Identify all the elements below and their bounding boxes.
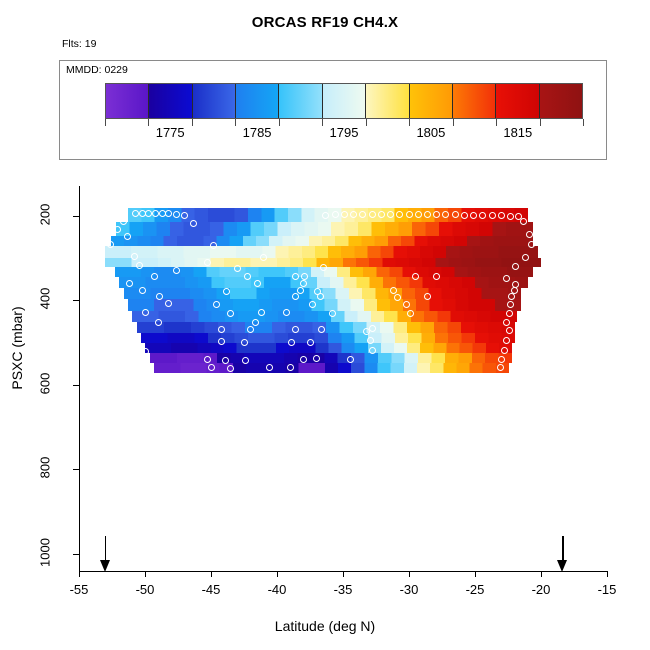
data-point-marker: [227, 365, 234, 372]
colorbar-segment: [539, 84, 582, 118]
data-point-marker: [320, 264, 327, 271]
data-point-marker: [292, 326, 299, 333]
figure-canvas: ORCAS RF19 CH4.X Flts: 19 MMDD: 0229 177…: [0, 0, 650, 650]
colorbar-tick-label: 1795: [330, 125, 359, 140]
data-point-marker: [412, 273, 419, 280]
x-tick-label: -40: [268, 582, 287, 597]
colorbar-segment: [278, 84, 321, 118]
data-point-marker: [124, 233, 131, 240]
x-tick: [541, 571, 542, 577]
y-tick-label: 200: [38, 191, 53, 237]
data-point-marker: [503, 337, 510, 344]
colorbar[interactable]: [105, 83, 583, 119]
data-point-marker: [131, 253, 138, 260]
page-title: ORCAS RF19 CH4.X: [0, 14, 650, 31]
x-axis-title: Latitude (deg N): [0, 618, 650, 634]
y-tick: [73, 300, 79, 301]
x-tick: [343, 571, 344, 577]
colorbar-segment: [148, 84, 191, 118]
flight-count-label: Flts: 19: [62, 38, 96, 50]
data-point-marker: [300, 356, 307, 363]
data-point-marker: [300, 280, 307, 287]
data-point-marker: [107, 241, 114, 248]
data-point-marker: [138, 364, 145, 371]
x-tick-label: -45: [202, 582, 221, 597]
data-point-marker: [136, 262, 143, 269]
data-point-marker: [218, 326, 225, 333]
x-tick-label: -20: [532, 582, 551, 597]
data-point-marker: [247, 326, 254, 333]
data-point-marker: [252, 319, 259, 326]
y-tick-label: 600: [38, 360, 53, 406]
data-point-marker: [489, 212, 496, 219]
colorbar-tick: [583, 119, 584, 126]
data-point-marker: [347, 356, 354, 363]
endpoint-arrow-icon: [100, 536, 111, 572]
data-point-marker: [292, 293, 299, 300]
data-point-marker: [506, 327, 513, 334]
data-point-marker: [322, 212, 329, 219]
data-point-marker: [507, 213, 514, 220]
data-point-marker: [461, 212, 468, 219]
data-point-marker: [234, 265, 241, 272]
data-point-marker: [507, 301, 514, 308]
y-axis-title: PSXC (mbar): [9, 268, 25, 428]
data-point-marker: [227, 310, 234, 317]
colorbar-panel: MMDD: 0229 17751785179518051815: [59, 60, 607, 160]
data-point-marker: [318, 326, 325, 333]
colorbar-segment: [409, 84, 452, 118]
data-point-marker: [218, 338, 225, 345]
x-tick-label: -50: [136, 582, 155, 597]
data-point-marker: [528, 241, 535, 248]
x-tick: [607, 571, 608, 577]
data-point-marker: [329, 310, 336, 317]
data-point-marker: [287, 364, 294, 371]
colorbar-tick-label: 1785: [243, 125, 272, 140]
x-tick: [475, 571, 476, 577]
x-tick-label: -55: [70, 582, 89, 597]
colorbar-segment: [235, 84, 278, 118]
y-tick-label: 1000: [38, 530, 53, 576]
data-point-marker: [406, 211, 413, 218]
data-point-marker: [242, 357, 249, 364]
y-tick: [73, 385, 79, 386]
data-point-marker: [424, 211, 431, 218]
data-point-marker: [156, 293, 163, 300]
data-point-marker: [369, 211, 376, 218]
colorbar-segment: [495, 84, 538, 118]
x-tick: [145, 571, 146, 577]
data-point-marker: [258, 309, 265, 316]
data-point-marker: [433, 211, 440, 218]
data-point-marker: [394, 294, 401, 301]
data-point-marker: [498, 212, 505, 219]
y-tick-label: 800: [38, 445, 53, 491]
x-tick-label: -15: [598, 582, 617, 597]
data-point-marker: [213, 301, 220, 308]
data-point-marker: [297, 287, 304, 294]
colorbar-segment: [192, 84, 235, 118]
data-point-marker: [506, 310, 513, 317]
data-point-marker: [165, 300, 172, 307]
data-point-marker: [309, 301, 316, 308]
x-tick: [277, 571, 278, 577]
data-point-marker: [204, 356, 211, 363]
x-tick-label: -30: [400, 582, 419, 597]
data-point-marker: [313, 355, 320, 362]
y-tick-label: 400: [38, 276, 53, 322]
data-point-marker: [307, 339, 314, 346]
data-point-marker: [244, 273, 251, 280]
data-point-marker: [470, 212, 477, 219]
x-tick-label: -35: [334, 582, 353, 597]
colorbar-tick-labels: 17751785179518051815: [105, 125, 583, 143]
data-point-marker: [173, 211, 180, 218]
data-point-marker: [433, 273, 440, 280]
data-point-marker: [204, 259, 211, 266]
date-label: MMDD: 0229: [66, 64, 128, 76]
data-point-marker: [396, 211, 403, 218]
data-point-marker: [260, 254, 267, 261]
colorbar-tick-label: 1775: [156, 125, 185, 140]
x-tick-label: -25: [466, 582, 485, 597]
colorbar-segment: [365, 84, 408, 118]
data-point-marker: [152, 210, 159, 217]
data-point-marker: [512, 263, 519, 270]
data-point-marker: [359, 211, 366, 218]
data-point-marker: [369, 347, 376, 354]
data-point-marker: [479, 212, 486, 219]
data-point-marker: [292, 273, 299, 280]
colorbar-tick-label: 1805: [416, 125, 445, 140]
data-point-marker: [424, 293, 431, 300]
data-point-marker: [503, 319, 510, 326]
data-point-marker: [403, 301, 410, 308]
colorbar-segment: [106, 84, 148, 118]
data-point-marker: [139, 287, 146, 294]
data-point-marker: [208, 364, 215, 371]
data-point-marker: [210, 242, 217, 249]
data-point-marker: [497, 364, 504, 371]
data-point-marker: [114, 226, 121, 233]
data-point-marker: [363, 328, 370, 335]
data-point-marker: [332, 211, 339, 218]
data-point-marker: [142, 309, 149, 316]
data-point-marker: [241, 339, 248, 346]
data-point-marker: [526, 231, 533, 238]
sample-point-markers: [79, 186, 607, 571]
data-point-marker: [181, 212, 188, 219]
data-point-marker: [367, 337, 374, 344]
data-point-marker: [415, 211, 422, 218]
x-tick: [409, 571, 410, 577]
y-tick: [73, 469, 79, 470]
data-point-marker: [155, 319, 162, 326]
data-point-marker: [283, 309, 290, 316]
data-point-marker: [350, 211, 357, 218]
data-point-marker: [190, 220, 197, 227]
data-point-marker: [508, 293, 515, 300]
data-point-marker: [266, 364, 273, 371]
data-point-marker: [126, 280, 133, 287]
plot-area[interactable]: [79, 186, 607, 571]
data-point-marker: [501, 347, 508, 354]
data-point-marker: [142, 348, 149, 355]
data-point-marker: [120, 218, 127, 225]
y-axis-line: [79, 186, 80, 572]
data-point-marker: [387, 211, 394, 218]
data-point-marker: [452, 211, 459, 218]
x-tick: [79, 571, 80, 577]
colorbar-segment: [452, 84, 495, 118]
data-point-marker: [341, 211, 348, 218]
data-point-marker: [520, 218, 527, 225]
x-tick: [211, 571, 212, 577]
data-point-marker: [503, 275, 510, 282]
data-point-marker: [498, 356, 505, 363]
y-tick: [73, 216, 79, 217]
data-point-marker: [378, 211, 385, 218]
data-point-marker: [222, 357, 229, 364]
data-point-marker: [317, 293, 324, 300]
data-point-marker: [254, 280, 261, 287]
data-point-marker: [288, 339, 295, 346]
colorbar-segment: [322, 84, 365, 118]
data-point-marker: [407, 310, 414, 317]
data-point-marker: [223, 288, 230, 295]
data-point-marker: [442, 211, 449, 218]
data-point-marker: [151, 273, 158, 280]
colorbar-tick-label: 1815: [503, 125, 532, 140]
data-point-marker: [126, 326, 133, 333]
y-tick: [73, 554, 79, 555]
endpoint-arrow-icon: [557, 536, 568, 572]
data-point-marker: [165, 210, 172, 217]
data-point-marker: [173, 267, 180, 274]
data-point-marker: [522, 254, 529, 261]
